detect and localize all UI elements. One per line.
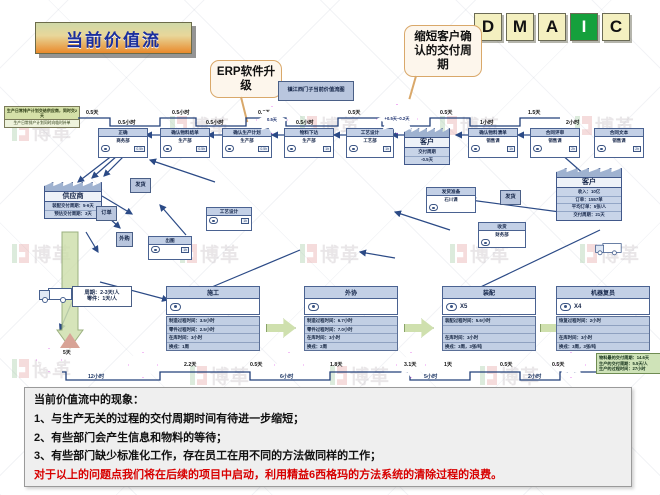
- data-row: 换戎：3周，3张/吨: [443, 343, 535, 351]
- operator-row: 2h: [595, 144, 643, 154]
- process-box-sub: 销售课: [469, 137, 517, 144]
- customer-data: 交付周期 -0.5天: [404, 148, 450, 165]
- process-data-table: 制造过程时间：6.7小时 零件过程时间：7.0小时 在库时间：3小时 换戎：2周: [304, 316, 398, 351]
- burst-star-icon: [128, 352, 158, 378]
- operator-row: 0.5h: [161, 144, 209, 154]
- operator-row: [167, 299, 259, 314]
- timeline-label: 1.5天: [528, 109, 540, 116]
- kaizen-burst: [36, 348, 60, 370]
- process-data-table: 制造过程时间：3.5小时 零件过程时间：2.5小时 在库时间：3小时 换戎：1周: [166, 316, 260, 351]
- flow-chip-shipment: 发货: [130, 178, 151, 193]
- data-row: 恢复过程时间：2小时: [557, 317, 649, 326]
- process-box-sub: 生产部: [223, 137, 271, 144]
- process-box-sub: 工艺部: [347, 137, 393, 144]
- process-box-side[interactable]: 收货 财务部: [478, 222, 526, 248]
- main-process-box[interactable]: 外协: [304, 286, 398, 315]
- data-row: 在库时间：3小时: [443, 334, 535, 343]
- process-box-title: 合同评审: [531, 129, 579, 137]
- main-process-box[interactable]: 施工: [166, 286, 260, 315]
- inventory-triangle-icon: [60, 333, 80, 348]
- summary-row: 生产的过程时间：27小时: [599, 366, 659, 372]
- data-row: 在库时间：3小时: [167, 334, 259, 343]
- flow-chip-outsource: 外购: [116, 232, 133, 247]
- process-box-title: 工艺设计: [207, 208, 251, 216]
- supplier-name: 供应商: [44, 191, 102, 202]
- process-box-title: 确认物料结单: [161, 129, 209, 137]
- main-process-title: 装配: [443, 287, 535, 299]
- process-box-title: 物料下达: [285, 129, 333, 137]
- watermark: 博革: [190, 362, 250, 389]
- flow-arrow-icon: [266, 318, 296, 338]
- timeline-label: 0.5小时: [296, 119, 314, 126]
- process-data-table: 装配过程时间：5.6小时 在库时间：3小时 换戎：3周，3张/吨: [442, 316, 536, 351]
- process-box-sub: 石川课: [427, 196, 475, 203]
- process-box-sub: 销售课: [531, 137, 579, 144]
- page-title: 当前价值流: [35, 22, 192, 54]
- operator-icon: [101, 145, 110, 152]
- customer-name: 客户: [404, 137, 450, 148]
- operator-icon: [287, 145, 296, 152]
- operator-row: 0.5h: [223, 144, 271, 154]
- timeline-label: 1小时: [480, 119, 493, 126]
- operator-icon: [225, 145, 234, 152]
- process-box[interactable]: 合同文本 销售课 2h: [594, 128, 644, 158]
- timeline-label: 0.5小时: [206, 119, 224, 126]
- kaizen-burst: [128, 352, 156, 376]
- operator-row: 1h: [149, 245, 191, 255]
- flow-chip-shipment-2: 发货: [500, 190, 521, 205]
- operator-icon: [560, 303, 571, 311]
- timeline-label: 0.5小时: [118, 119, 136, 126]
- conclusion-highlight: 对于以上的问题点我们将在后续的项目中启动，利用精益6西格玛的方法系统的清除过程的…: [34, 469, 622, 483]
- data-row: 零件过程时间：2.5小时: [167, 326, 259, 335]
- operator-row: 2h: [531, 144, 579, 154]
- process-box-title: 确认物料清单: [469, 129, 517, 137]
- data-row: 换戎：1周: [167, 343, 259, 351]
- dmaic-cell-a[interactable]: A: [538, 13, 566, 41]
- operator-icon: [429, 204, 438, 211]
- customer-node[interactable]: 客户 收入：10亿 订单：1557单 平均订单：5张/人 交付周期：21天: [556, 168, 622, 221]
- operator-icon: [597, 145, 606, 152]
- data-row: 在库时间：3小时: [557, 334, 649, 343]
- operator-row: [427, 203, 475, 213]
- dmaic-cell-c[interactable]: C: [602, 13, 630, 41]
- operator-icon: [349, 145, 358, 152]
- timeline-day-label: 1.8天: [330, 361, 342, 368]
- process-box[interactable]: 确认生产计划 生产部 0.5h: [222, 128, 272, 158]
- process-box-sub: 销售课: [595, 137, 643, 144]
- process-box-side[interactable]: 工艺设计 1h: [206, 207, 252, 231]
- kaizen-burst: 0.5天: [256, 106, 286, 132]
- dmaic-phase-indicator: D M A I C: [474, 13, 630, 41]
- data-row: [443, 326, 535, 335]
- operator-row: 0.5h: [99, 144, 147, 154]
- conclusion-panel: 当前价值流中的现象： 1、与生产无关的过程的交付周期时间有待进一步缩短； 2、有…: [24, 387, 632, 487]
- main-process-title: 机器复员: [557, 287, 649, 299]
- timeline-hour-label: 12小时: [88, 373, 104, 380]
- operator-icon: [471, 145, 480, 152]
- conclusion-item: 2、有些部门会产生信息和物料的等待；: [34, 432, 622, 446]
- kaizen-burst: +0.5天~0.2天: [376, 104, 416, 132]
- operator-row: 1h: [207, 216, 251, 226]
- process-box[interactable]: 正确 商务部 0.5h: [98, 128, 148, 158]
- watermark: 博革: [300, 240, 360, 267]
- operator-row: [479, 238, 525, 248]
- data-row: 换戎：2周: [305, 343, 397, 351]
- process-box-title: 收货: [479, 223, 525, 231]
- process-box-title: 出图: [149, 237, 191, 245]
- timeline-day-label: 0.5天: [552, 361, 564, 368]
- customer-data: 收入：10亿 订单：1557单 平均订单：5张/人 交付周期：21天: [556, 188, 622, 220]
- timeline-hour-label: 2小时: [528, 373, 541, 380]
- flow-chip-order: 订单: [96, 206, 117, 221]
- supplier-data: 装配交付周期：5-6天 预估交付周期：3天: [44, 202, 102, 219]
- operator-row: 1h: [347, 144, 393, 154]
- process-box-title: 正确: [99, 129, 147, 137]
- watermark: 博革: [12, 240, 72, 267]
- timeline-hour-label: 6小时: [280, 373, 293, 380]
- burst-star-icon: [36, 348, 62, 372]
- customer-name: 客户: [556, 177, 622, 188]
- process-box[interactable]: 确认物料清单 销售课 1h: [468, 128, 518, 158]
- timeline-day-label: 0.5天: [250, 361, 262, 368]
- data-row: 装配过程时间：5.6小时: [443, 317, 535, 326]
- process-box[interactable]: 确认物料结单 生产部 0.5h: [160, 128, 210, 158]
- burst-star-icon: +0.5天~0.2天: [376, 104, 418, 134]
- timeline-label: 2小时: [566, 119, 579, 126]
- operator-icon: [163, 145, 172, 152]
- operator-row: X5: [443, 299, 535, 314]
- main-process-title: 外协: [305, 287, 397, 299]
- timeline-label: 0.5天: [86, 109, 98, 116]
- flow-arrow-icon: [404, 318, 434, 338]
- truck-icon: [48, 288, 72, 300]
- customer-node-small[interactable]: 客户 交付周期 -0.5天: [404, 128, 450, 165]
- process-box-sub: 生产部: [285, 137, 333, 144]
- data-row: [557, 326, 649, 335]
- timeline-day-label: 1天: [444, 361, 452, 368]
- note-supplier-schedule: 生产日常排产计划交给供应商，同时交2天 生产日常排产计划同时向临时补单: [4, 106, 80, 128]
- callout-shorten-lead-time: 缩短客户确认的交付周期: [404, 25, 482, 77]
- data-row: 制造过程时间：6.7小时: [305, 317, 397, 326]
- process-box-sub: 商务部: [99, 137, 147, 144]
- operator-icon: [308, 303, 319, 311]
- timeline-label: 0.5天: [348, 109, 360, 116]
- process-box-side[interactable]: 发货准备 石川课: [426, 187, 476, 213]
- data-row: 制造过程时间：3.5小时: [167, 317, 259, 326]
- conclusion-item: 1、与生产无关的过程的交付周期时间有待进一步缩短；: [34, 413, 622, 427]
- timeline-hour-label: 5小时: [424, 373, 437, 380]
- operator-icon: [533, 145, 542, 152]
- timeline-day-label: 0.5天: [500, 361, 512, 368]
- operator-icon: [209, 217, 218, 224]
- page-title-text: 当前价值流: [66, 26, 161, 51]
- main-process-title: 施工: [167, 287, 259, 299]
- truck-note: 周期：2-3天/人零件：1天/人: [72, 286, 132, 307]
- process-box-sub: 生产部: [161, 137, 209, 144]
- operator-icon: [446, 303, 457, 311]
- main-process-box[interactable]: 机器复员 X4: [556, 286, 650, 315]
- inventory-label: 5天: [63, 349, 71, 356]
- operator-row: 1h: [469, 144, 517, 154]
- process-box[interactable]: 工艺设计 工艺部 1h: [346, 128, 394, 158]
- data-row: 换戎：3周，3张/吨: [557, 343, 649, 351]
- summary-green-box: 物料最的交付周期：14.6天 生产的交付周期：5.5天/人 生产的过程时间：27…: [596, 353, 660, 374]
- factory-roof-icon: [556, 168, 622, 177]
- dmaic-cell-i[interactable]: I: [570, 13, 598, 41]
- truck-icon: [602, 243, 621, 253]
- conclusion-heading: 当前价值流中的现象：: [34, 394, 622, 408]
- diagram-subtitle-chip: 镇江西门子当前价值流图: [278, 81, 354, 101]
- operator-row: X4: [557, 299, 649, 314]
- factory-roof-icon: [44, 182, 102, 191]
- operator-icon: [151, 246, 160, 253]
- timeline-label: 0.5天: [440, 109, 452, 116]
- process-box[interactable]: 物料下达 生产部 1h: [284, 128, 334, 158]
- conclusion-item: 3、有些部门缺少标准化工作，存在员工在用不同的方法做同样的工作；: [34, 450, 622, 464]
- operator-row: 1h: [285, 144, 333, 154]
- process-data-table: 恢复过程时间：2小时 在库时间：3小时 换戎：3周，3张/吨: [556, 316, 650, 351]
- operator-icon: [481, 239, 490, 246]
- burst-star-icon: 0.5天: [256, 106, 288, 134]
- supplier-node[interactable]: 供应商 装配交付周期：5-6天 预估交付周期：3天: [44, 182, 102, 219]
- main-process-box[interactable]: 装配 X5: [442, 286, 536, 315]
- timeline-day-label: 2.2天: [184, 361, 196, 368]
- callout-erp-upgrade: ERP软件升级: [210, 60, 282, 98]
- process-box-side[interactable]: 出图 1h: [148, 236, 192, 260]
- data-row: 在库时间：3小时: [305, 334, 397, 343]
- process-box-sub: 财务部: [479, 231, 525, 238]
- timeline-day-label: 3.1天: [404, 361, 416, 368]
- process-box-title: 发货准备: [427, 188, 475, 196]
- process-box[interactable]: 合同评审 销售课 2h: [530, 128, 580, 158]
- operator-icon: [170, 303, 181, 311]
- timeline-label: 0.5小时: [172, 109, 190, 116]
- process-box-title: 合同文本: [595, 129, 643, 137]
- data-row: 零件过程时间：7.0小时: [305, 326, 397, 335]
- operator-row: [305, 299, 397, 314]
- dmaic-cell-m[interactable]: M: [506, 13, 534, 41]
